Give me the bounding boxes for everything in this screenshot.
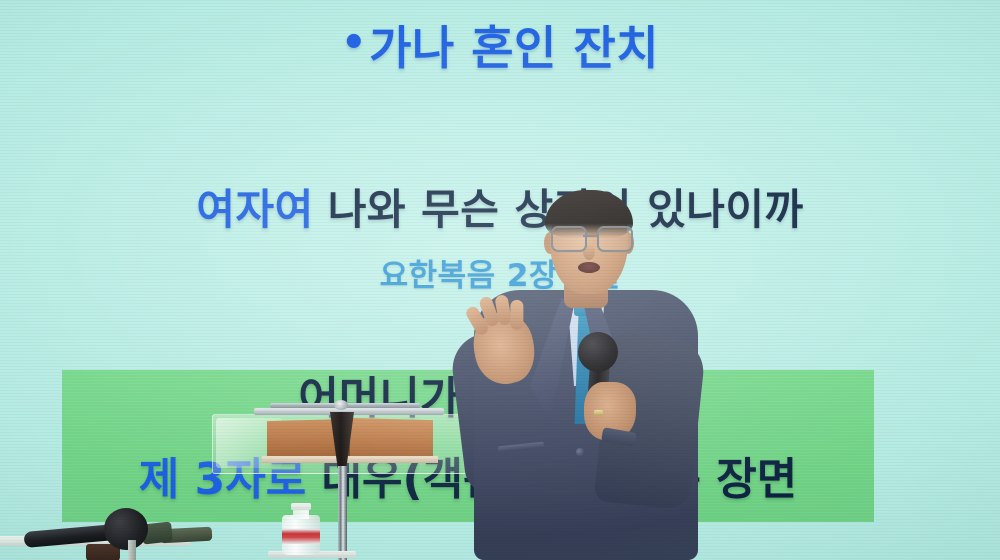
eyeglass-bridge bbox=[583, 235, 597, 237]
bullet-icon: • bbox=[341, 20, 367, 66]
mic-support bbox=[128, 540, 136, 560]
verse-highlight: 여자여 bbox=[196, 185, 313, 234]
slide-title: •가나 혼인 잔치 bbox=[0, 12, 1000, 78]
finger-ring bbox=[594, 410, 603, 416]
finger-4 bbox=[510, 300, 523, 330]
bible-right-page bbox=[349, 418, 433, 461]
eyeglass-lens-left bbox=[551, 226, 587, 252]
speaker-mouth bbox=[578, 262, 600, 273]
acrylic-lectern bbox=[212, 398, 468, 560]
speaker-figure bbox=[452, 186, 716, 560]
suit-button bbox=[576, 448, 584, 456]
bottle-label bbox=[282, 529, 320, 544]
resting-microphone-icon bbox=[104, 508, 148, 550]
water-bottle-icon bbox=[278, 503, 324, 553]
slide-title-text: 가나 혼인 잔치 bbox=[369, 21, 659, 75]
stage-photo: •가나 혼인 잔치 여자여나와 무슨 상관이 있나이까 요한복음 2장 4절 어… bbox=[0, 0, 1000, 560]
eyeglasses-icon bbox=[547, 226, 633, 250]
lectern-pole bbox=[338, 466, 347, 560]
bottle-cap bbox=[291, 503, 311, 510]
eyeglass-lens-right bbox=[597, 226, 633, 252]
microphone-icon bbox=[578, 332, 618, 372]
lectern-knob bbox=[334, 400, 348, 410]
bible-page-edge bbox=[262, 456, 438, 463]
